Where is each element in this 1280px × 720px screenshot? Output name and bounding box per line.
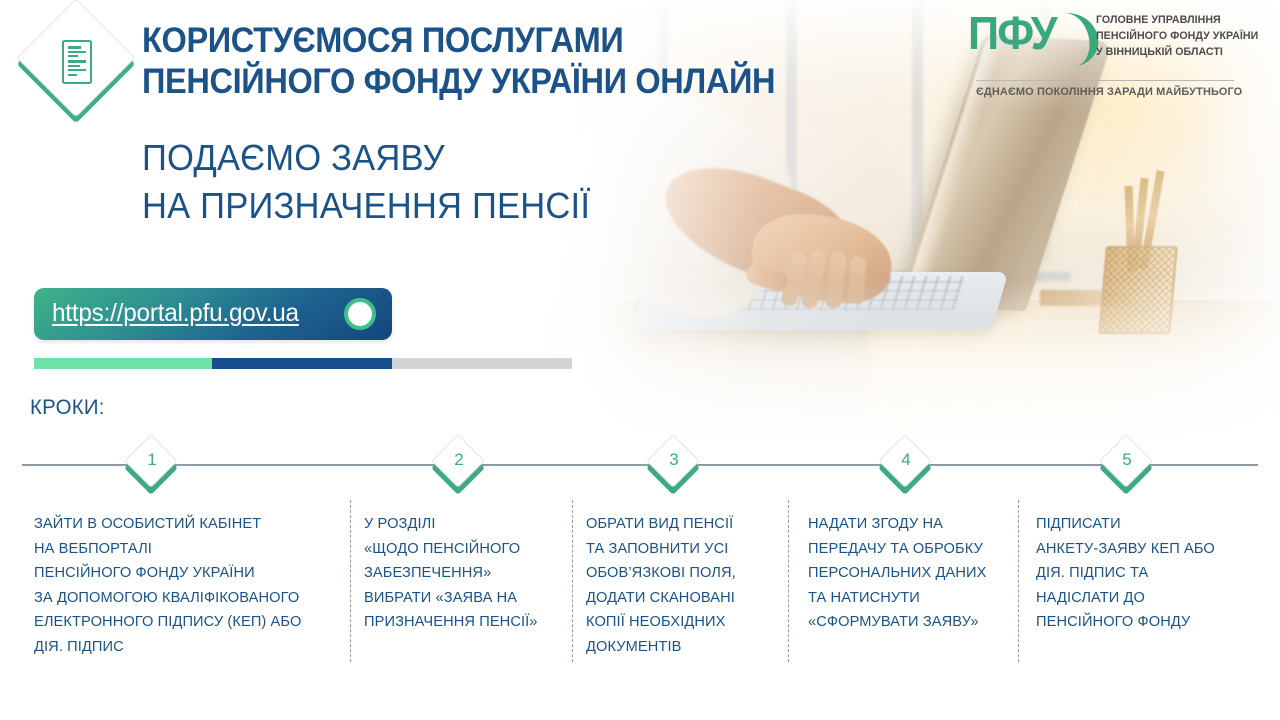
step-divider — [572, 500, 573, 662]
page-title: КОРИСТУЄМОСЯ ПОСЛУГАМИ ПЕНСІЙНОГО ФОНДУ … — [142, 20, 775, 102]
step-number: 5 — [1100, 450, 1154, 470]
document-badge — [26, 14, 126, 114]
step-number: 2 — [432, 450, 486, 470]
steps-label: КРОКИ: — [30, 396, 105, 420]
infographic-poster: КОРИСТУЄМОСЯ ПОСЛУГАМИ ПЕНСІЙНОГО ФОНДУ … — [0, 0, 1280, 720]
progress-segment-grey — [392, 358, 572, 369]
step-marker-5[interactable]: 5 — [1100, 440, 1154, 494]
ring-icon — [344, 298, 376, 330]
logo-divider — [976, 80, 1234, 81]
step-text-1: ЗАЙТИ В ОСОБИСТИЙ КАБІНЕТ НА ВЕБПОРТАЛІ … — [34, 512, 327, 659]
portal-url-button[interactable]: https://portal.pfu.gov.ua — [34, 288, 392, 340]
step-divider — [788, 500, 789, 662]
step-number: 4 — [879, 450, 933, 470]
pfu-logo-department: ГОЛОВНЕ УПРАВЛІННЯ ПЕНСІЙНОГО ФОНДУ УКРА… — [1096, 12, 1258, 60]
step-divider — [350, 500, 351, 662]
progress-segment-green — [34, 358, 212, 369]
page-subtitle: ПОДАЄМО ЗАЯВУ НА ПРИЗНАЧЕННЯ ПЕНСІЇ — [142, 134, 590, 230]
progress-segment-blue — [212, 358, 392, 369]
step-marker-1[interactable]: 1 — [125, 440, 179, 494]
step-text-2: У РОЗДІЛІ «ЩОДО ПЕНСІЙНОГО ЗАБЕЗПЕЧЕННЯ»… — [364, 512, 559, 635]
pfu-logo-mark: ПФУ — [968, 8, 1056, 58]
step-number: 1 — [125, 450, 179, 470]
portal-url-label[interactable]: https://portal.pfu.gov.ua — [52, 299, 299, 328]
step-divider — [1018, 500, 1019, 662]
pfu-logo-tagline: ЄДНАЄМО ПОКОЛІННЯ ЗАРАДИ МАЙБУТНЬОГО — [976, 86, 1242, 98]
step-marker-4[interactable]: 4 — [879, 440, 933, 494]
steps-timeline — [22, 464, 1258, 466]
step-marker-2[interactable]: 2 — [432, 440, 486, 494]
photo-fade-bottom — [540, 280, 1280, 450]
step-marker-3[interactable]: 3 — [647, 440, 701, 494]
step-text-4: НАДАТИ ЗГОДУ НА ПЕРЕДАЧУ ТА ОБРОБКУ ПЕРС… — [808, 512, 1009, 635]
step-text-5: ПІДПИСАТИ АНКЕТУ-ЗАЯВУ КЕП АБО ДІЯ. ПІДП… — [1036, 512, 1260, 635]
document-icon — [62, 40, 92, 84]
pfu-logo-swoosh-icon — [1050, 9, 1101, 69]
pfu-logo: ПФУ ГОЛОВНЕ УПРАВЛІННЯ ПЕНСІЙНОГО ФОНДУ … — [968, 8, 1268, 104]
progress-bar — [34, 358, 572, 369]
step-number: 3 — [647, 450, 701, 470]
step-text-3: ОБРАТИ ВИД ПЕНСІЇ ТА ЗАПОВНИТИ УСІ ОБОВ’… — [586, 512, 777, 659]
